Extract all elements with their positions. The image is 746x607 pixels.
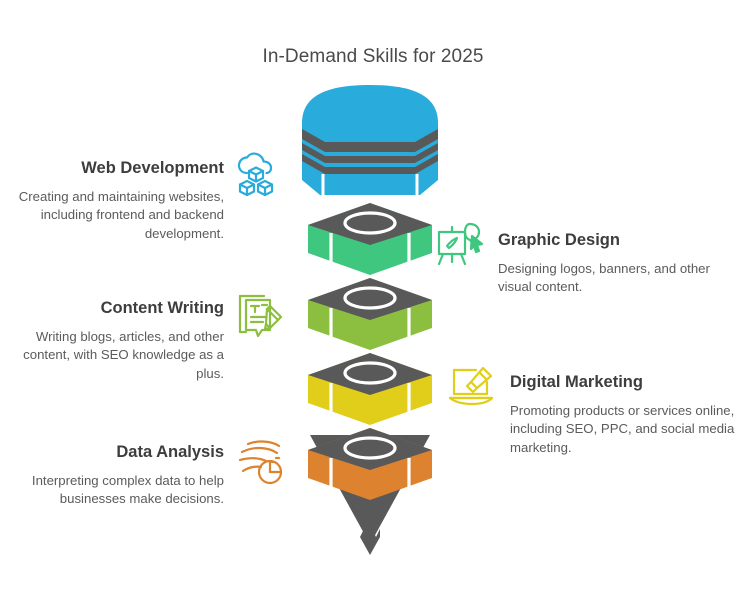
speed-pie-chart-icon <box>234 436 286 488</box>
document-pencil-icon <box>234 292 286 344</box>
infographic-canvas: In-Demand Skills for 2025 <box>0 0 746 607</box>
skill-heading-digital-marketing: Digital Marketing <box>510 372 738 393</box>
skill-text-web-development: Web Development Creating and maintaining… <box>14 152 234 244</box>
skill-description-content-writing: Writing blogs, articles, and other conte… <box>14 328 224 384</box>
skill-text-digital-marketing: Digital Marketing Promoting products or … <box>498 360 738 458</box>
skill-heading-graphic-design: Graphic Design <box>498 230 734 251</box>
skill-item-graphic-design[interactable]: Graphic Design Designing logos, banners,… <box>434 218 734 297</box>
page-title: In-Demand Skills for 2025 <box>0 46 746 68</box>
funnel-segment-digital-marketing <box>308 353 432 425</box>
skill-heading-data-analysis: Data Analysis <box>14 442 224 463</box>
skill-description-graphic-design: Designing logos, banners, and other visu… <box>498 260 734 297</box>
skill-description-digital-marketing: Promoting products or services online, i… <box>510 402 738 458</box>
skill-text-data-analysis: Data Analysis Interpreting complex data … <box>14 436 234 509</box>
easel-cursor-icon <box>434 218 486 270</box>
skill-item-data-analysis[interactable]: Data Analysis Interpreting complex data … <box>14 436 286 509</box>
megaphone-laptop-icon <box>446 360 498 412</box>
funnel-segment-content-writing <box>308 278 432 350</box>
skill-text-graphic-design: Graphic Design Designing logos, banners,… <box>486 218 734 297</box>
skill-text-content-writing: Content Writing Writing blogs, articles,… <box>14 292 234 384</box>
skill-item-content-writing[interactable]: Content Writing Writing blogs, articles,… <box>14 292 286 384</box>
skill-heading-content-writing: Content Writing <box>14 298 224 319</box>
skill-item-digital-marketing[interactable]: Digital Marketing Promoting products or … <box>446 360 738 458</box>
skill-item-web-development[interactable]: Web Development Creating and maintaining… <box>14 152 286 244</box>
skills-funnel <box>290 85 450 565</box>
skill-description-web-development: Creating and maintaining websites, inclu… <box>14 188 224 244</box>
funnel-segment-web-development <box>302 85 438 195</box>
skill-description-data-analysis: Interpreting complex data to help busine… <box>14 472 224 509</box>
funnel-segment-graphic-design <box>308 203 432 275</box>
cloud-cubes-icon <box>234 152 286 204</box>
skill-heading-web-development: Web Development <box>14 158 224 179</box>
